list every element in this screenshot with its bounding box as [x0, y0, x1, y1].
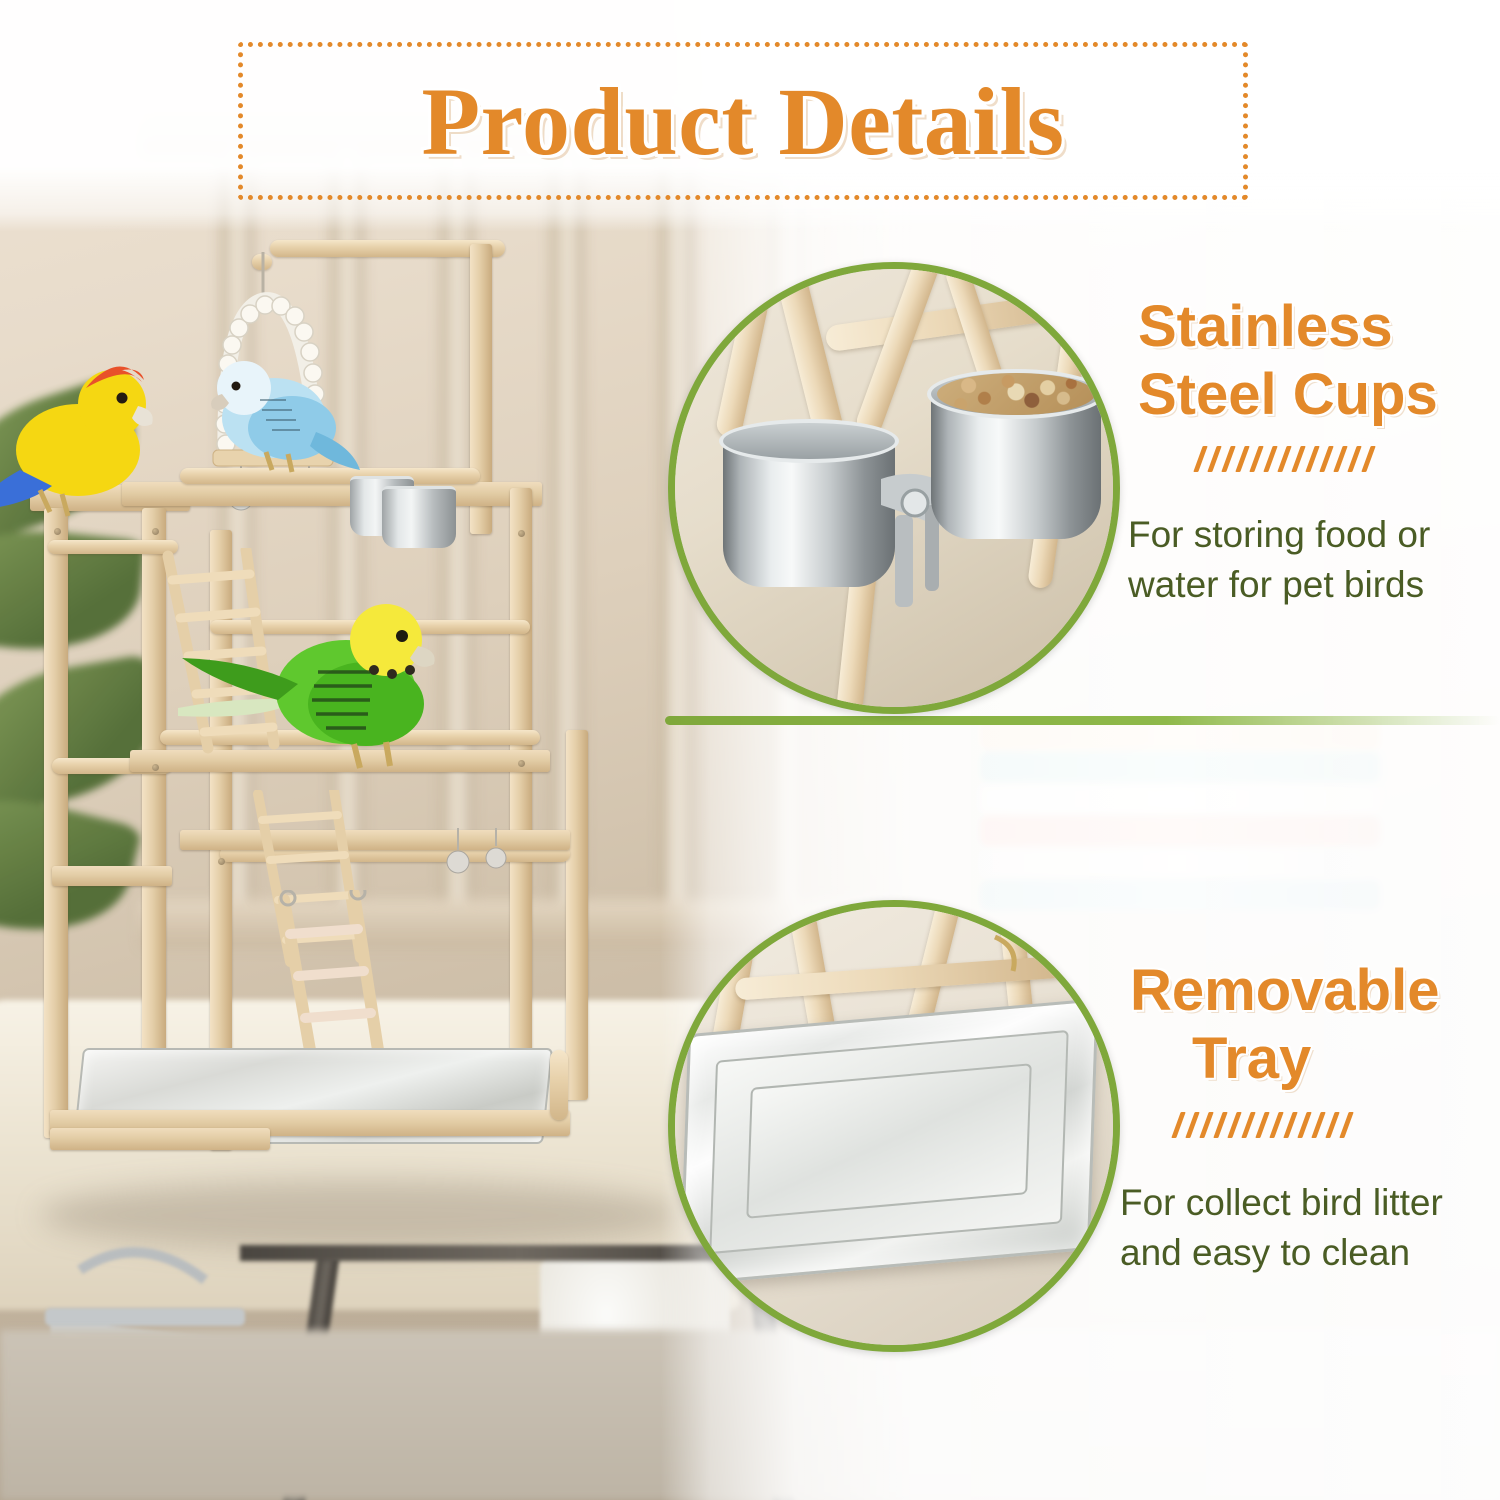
feature-2-body-line2: and easy to clean	[1120, 1228, 1410, 1278]
feature-1-accent-rule	[1198, 446, 1371, 472]
feature-1-heading-line2: Steel Cups	[1138, 364, 1438, 427]
removable-tray-closeup	[679, 998, 1098, 1286]
feature-1-body-line2: water for pet birds	[1128, 560, 1424, 610]
lovebird	[0, 330, 200, 530]
feature-image-removable-tray	[668, 900, 1120, 1352]
feature-2-body-line1: For collect bird litter	[1120, 1178, 1443, 1228]
page-title: Product Details	[238, 46, 1248, 196]
green-budgie	[178, 588, 458, 788]
section-divider	[665, 716, 1500, 725]
bell-decoration	[440, 828, 520, 908]
bird-seeds	[937, 373, 1095, 415]
feature-1-heading-line1: Stainless	[1138, 296, 1393, 359]
feature-2-heading-line2: Tray	[1192, 1028, 1311, 1091]
feature-image-stainless-steel-cups	[668, 262, 1120, 714]
feature-2-accent-rule	[1176, 1112, 1349, 1138]
feature-1-body-line1: For storing food or	[1128, 510, 1430, 560]
steel-cup-large	[382, 486, 456, 548]
product-detail-infographic: Product Details	[0, 0, 1500, 1500]
blue-budgie	[196, 340, 366, 490]
feature-2-heading-line1: Removable	[1130, 960, 1439, 1023]
